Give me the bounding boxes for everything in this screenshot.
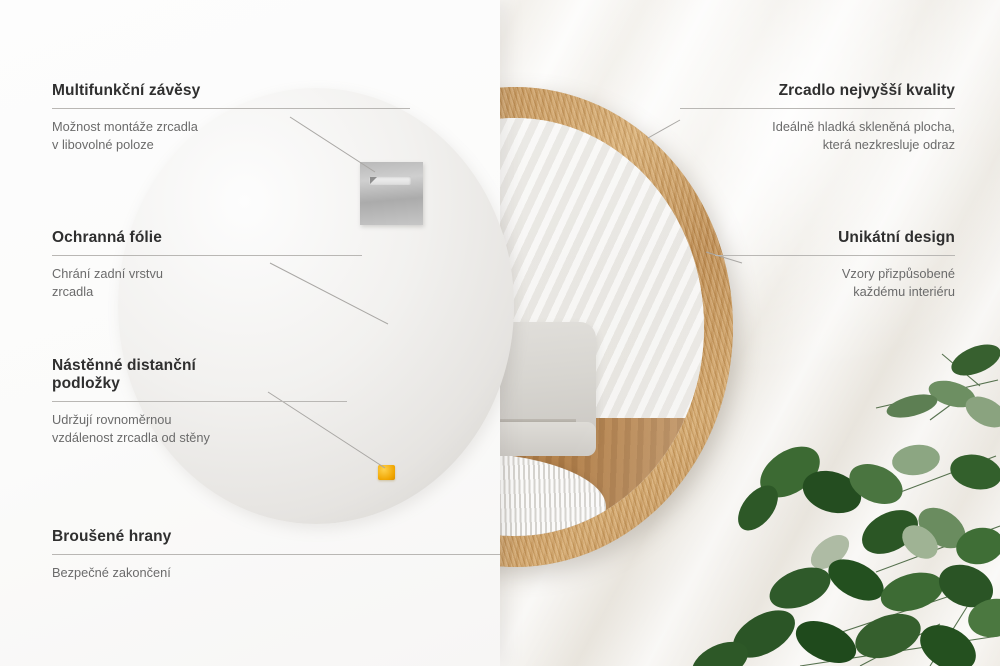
callout-title: Multifunkční závěsy xyxy=(52,82,410,100)
callout-body: Udržují rovnoměrnou vzdálenost zrcadla o… xyxy=(52,411,347,447)
callout-rule xyxy=(715,255,955,256)
callout-protective-foil: Ochranná fólie Chrání zadní vrstvu zrcad… xyxy=(52,229,362,301)
callout-body: Ideálně hladká skleněná plocha, která ne… xyxy=(680,118,955,154)
callout-rule xyxy=(52,108,410,109)
callout-body: Vzory přizpůsobené každému interiéru xyxy=(715,265,955,301)
callout-wall-spacers: Nástěnné distanční podložky Udržují rovn… xyxy=(52,357,347,447)
round-mirror xyxy=(497,87,732,567)
callout-title: Ochranná fólie xyxy=(52,229,362,247)
callout-unique-design: Unikátní design Vzory přizpůsobené každé… xyxy=(715,229,955,301)
callout-polished-edges: Broušené hrany Bezpečné zakončení xyxy=(52,528,500,582)
hanger-slot xyxy=(369,176,411,185)
callout-body: Bezpečné zakončení xyxy=(52,564,500,582)
callout-multifunctional-hangers: Multifunkční závěsy Možnost montáže zrca… xyxy=(52,82,410,154)
hanger-plate xyxy=(360,162,423,225)
callout-rule xyxy=(52,401,347,402)
callout-top-quality-mirror: Zrcadlo nejvyšší kvality Ideálně hladká … xyxy=(680,82,955,154)
infographic-stage: Multifunkční závěsy Možnost montáže zrca… xyxy=(0,0,1000,666)
callout-body: Chrání zadní vrstvu zrcadla xyxy=(52,265,362,301)
callout-body: Možnost montáže zrcadla v libovolné polo… xyxy=(52,118,410,154)
callout-title: Broušené hrany xyxy=(52,528,500,546)
callout-title: Zrcadlo nejvyšší kvality xyxy=(680,82,955,100)
callout-rule xyxy=(52,255,362,256)
callout-title: Nástěnné distanční podložky xyxy=(52,357,347,393)
yellow-spacer xyxy=(378,465,395,480)
callout-rule xyxy=(680,108,955,109)
callout-title: Unikátní design xyxy=(715,229,955,247)
callout-rule xyxy=(52,554,500,555)
